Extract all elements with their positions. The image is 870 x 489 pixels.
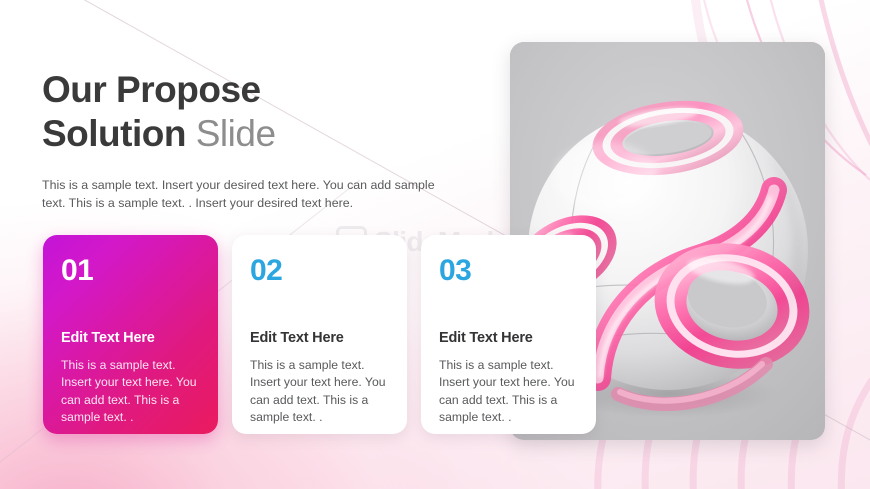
page-title: Our Propose Solution Slide: [42, 68, 276, 155]
title-light-part: Slide: [186, 113, 276, 154]
card-title: Edit Text Here: [250, 330, 389, 346]
card-title: Edit Text Here: [61, 330, 200, 346]
card-title: Edit Text Here: [439, 330, 578, 346]
title-line-1: Our Propose: [42, 68, 276, 112]
card-body: This is a sample text. Insert your text …: [250, 357, 389, 426]
card-body: This is a sample text. Insert your text …: [61, 357, 200, 426]
card-body: This is a sample text. Insert your text …: [439, 357, 578, 426]
title-bold-part: Solution: [42, 113, 186, 154]
card-number: 02: [250, 256, 389, 286]
card-03[interactable]: 03 Edit Text Here This is a sample text.…: [421, 235, 596, 434]
slide-subtitle: This is a sample text. Insert your desir…: [42, 176, 454, 213]
card-list: 01 Edit Text Here This is a sample text.…: [43, 235, 596, 434]
card-number: 03: [439, 256, 578, 286]
title-line-2: Solution Slide: [42, 112, 276, 156]
card-01[interactable]: 01 Edit Text Here This is a sample text.…: [43, 235, 218, 434]
card-number: 01: [61, 256, 200, 286]
card-02[interactable]: 02 Edit Text Here This is a sample text.…: [232, 235, 407, 434]
presentation-slide: SlideModel .com Our Propose Solution Sli…: [0, 0, 870, 489]
